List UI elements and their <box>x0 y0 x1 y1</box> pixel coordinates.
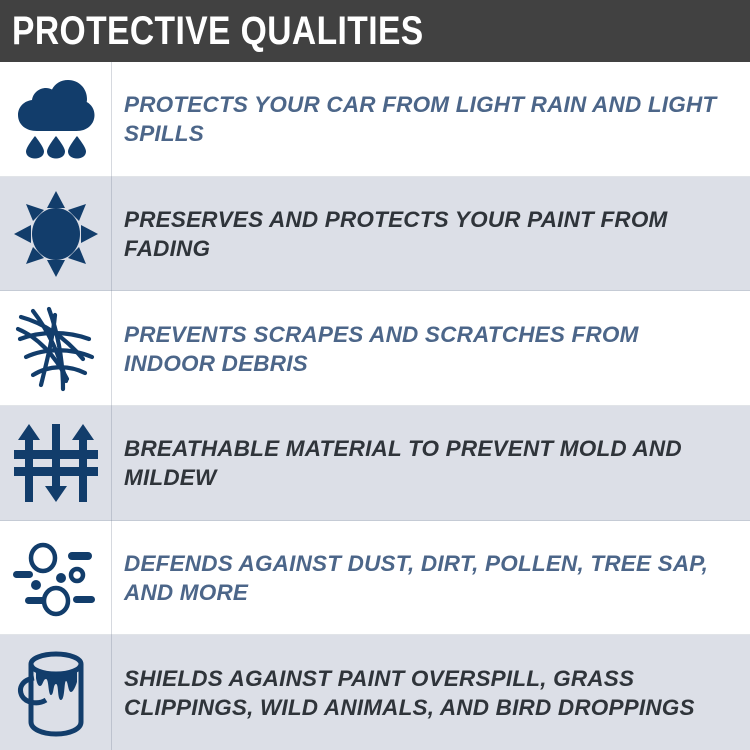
rain-cloud-icon <box>15 79 97 159</box>
page-title: PROTECTIVE QUALITIES <box>12 11 424 51</box>
feature-row: SHIELDS AGAINST PAINT OVERSPILL, GRASS C… <box>0 635 750 750</box>
sun-icon <box>14 191 98 277</box>
icon-cell <box>0 291 112 406</box>
text-cell: BREATHABLE MATERIAL TO PREVENT MOLD AND … <box>112 406 750 521</box>
text-cell: PREVENTS SCRAPES AND SCRATCHES FROM INDO… <box>112 291 750 406</box>
feature-row: BREATHABLE MATERIAL TO PREVENT MOLD AND … <box>0 406 750 521</box>
icon-cell <box>0 62 112 177</box>
icon-cell <box>0 635 112 750</box>
feature-text: DEFENDS AGAINST DUST, DIRT, POLLEN, TREE… <box>124 549 736 607</box>
protective-qualities-infographic: PROTECTIVE QUALITIES PROTECTS YOUR CAR F… <box>0 0 750 750</box>
feature-text: PROTECTS YOUR CAR FROM LIGHT RAIN AND LI… <box>124 90 736 148</box>
feature-row: PRESERVES AND PROTECTS YOUR PAINT FROM F… <box>0 177 750 292</box>
scratches-mesh-icon <box>13 303 99 395</box>
feature-text: PREVENTS SCRAPES AND SCRATCHES FROM INDO… <box>124 320 736 378</box>
text-cell: SHIELDS AGAINST PAINT OVERSPILL, GRASS C… <box>112 635 750 750</box>
feature-row: PROTECTS YOUR CAR FROM LIGHT RAIN AND LI… <box>0 62 750 177</box>
text-cell: DEFENDS AGAINST DUST, DIRT, POLLEN, TREE… <box>112 521 750 636</box>
text-cell: PRESERVES AND PROTECTS YOUR PAINT FROM F… <box>112 177 750 292</box>
feature-row: DEFENDS AGAINST DUST, DIRT, POLLEN, TREE… <box>0 521 750 636</box>
dust-particles-icon <box>11 538 101 618</box>
header-bar: PROTECTIVE QUALITIES <box>0 0 750 62</box>
icon-cell <box>0 521 112 636</box>
text-cell: PROTECTS YOUR CAR FROM LIGHT RAIN AND LI… <box>112 62 750 177</box>
feature-list: PROTECTS YOUR CAR FROM LIGHT RAIN AND LI… <box>0 62 750 750</box>
icon-cell <box>0 406 112 521</box>
paint-can-icon <box>16 648 96 738</box>
icon-cell <box>0 177 112 292</box>
breathable-arrows-icon <box>14 420 98 506</box>
feature-text: BREATHABLE MATERIAL TO PREVENT MOLD AND … <box>124 434 736 492</box>
feature-row: PREVENTS SCRAPES AND SCRATCHES FROM INDO… <box>0 291 750 406</box>
feature-text: SHIELDS AGAINST PAINT OVERSPILL, GRASS C… <box>124 664 736 722</box>
feature-text: PRESERVES AND PROTECTS YOUR PAINT FROM F… <box>124 205 736 263</box>
